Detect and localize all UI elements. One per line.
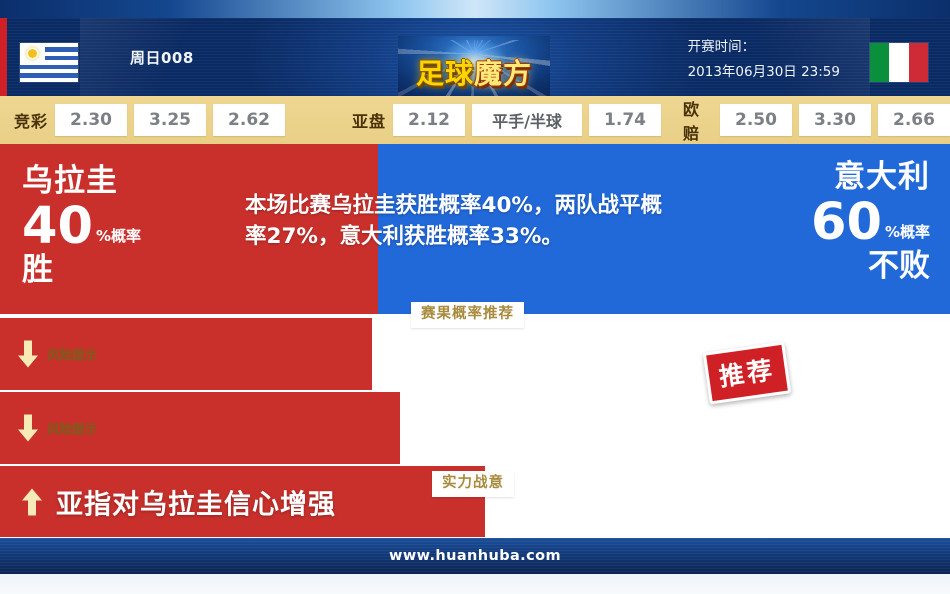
- kickoff-time-block: 开赛时间： 2013年06月30日 23:59: [688, 18, 840, 96]
- site-logo[interactable]: 足球魔方: [398, 36, 550, 96]
- probability-summary-text: 本场比赛乌拉圭获胜概率40%，两队战平概率27%，意大利获胜概率33%。: [245, 190, 675, 252]
- kickoff-label: 开赛时间：: [688, 35, 840, 55]
- header-bar: 周日008 足球魔方 开赛时间： 2013年06月30日 23:59: [0, 18, 950, 96]
- logo-text-part1: 足球: [416, 57, 474, 90]
- away-outcome-label: 不败: [811, 251, 930, 282]
- arrow-up-icon: [22, 488, 42, 515]
- odds-cell-draw[interactable]: 3.25: [134, 104, 206, 136]
- arrow-down-icon: [18, 415, 38, 442]
- odds-cell-away[interactable]: 2.66: [878, 104, 950, 136]
- header-red-edge: [0, 18, 7, 96]
- lottery-home-panel: 亚指对乌拉圭信心增强: [0, 466, 485, 537]
- match-preview-graphic: 周日008 足球魔方 开赛时间： 2013年06月30日 23:59 竞彩 2.…: [0, 0, 950, 594]
- status-home-panel: 风险提示: [0, 392, 400, 464]
- strength-home-panel: 风险提示: [0, 318, 372, 390]
- risk-hint-left: 风险提示: [18, 341, 97, 368]
- home-outcome-label: 胜: [22, 255, 141, 286]
- uruguay-sun-icon: [28, 49, 37, 58]
- tab-probability[interactable]: 赛果概率推荐: [411, 302, 524, 328]
- away-team-name: 意大利: [811, 162, 930, 193]
- tab-strength[interactable]: 实力战意: [432, 471, 514, 497]
- risk-hint-label: 风险提示: [47, 345, 97, 364]
- odds-group-jingcai: 竞彩 2.30 3.25 2.62: [14, 104, 285, 136]
- risk-hint-label: 风险提示: [47, 419, 97, 438]
- home-team-block: 乌拉圭 40 %概率 胜: [22, 166, 141, 286]
- uruguay-flag-icon: [20, 43, 78, 82]
- page-bottom-padding: [0, 574, 950, 594]
- match-number: 周日008: [130, 18, 194, 96]
- odds-cell-handicap[interactable]: 平手/半球: [472, 104, 582, 136]
- away-probability-value: 60: [811, 199, 882, 247]
- footer-url[interactable]: www.huanhuba.com: [389, 548, 561, 564]
- footer-bar: www.huanhuba.com: [0, 538, 950, 574]
- odds-cell-home[interactable]: 2.12: [393, 104, 465, 136]
- odds-group-label: 亚盘: [352, 108, 386, 132]
- strength-row: 风险提示 意大利交锋不落下风: [0, 318, 950, 390]
- status-row: 风险提示 意大利表现稳定不败率高: [0, 392, 950, 464]
- odds-cell-away[interactable]: 2.62: [213, 104, 285, 136]
- risk-hint-left: 风险提示: [18, 415, 97, 442]
- odds-group-label: 欧赔: [683, 96, 713, 144]
- logo-text: 足球魔方: [398, 52, 550, 92]
- logo-text-part2: 魔方: [474, 57, 532, 90]
- odds-bar: 竞彩 2.30 3.25 2.62 亚盘 2.12 平手/半球 1.74 欧赔 …: [0, 96, 950, 144]
- home-probability-suffix: %概率: [96, 229, 141, 244]
- away-team-block: 意大利 60 %概率 不败: [811, 162, 930, 282]
- odds-group-asian: 亚盘 2.12 平手/半球 1.74: [352, 104, 661, 136]
- odds-cell-draw[interactable]: 3.30: [799, 104, 871, 136]
- odds-group-label: 竞彩: [14, 108, 48, 132]
- home-probability-value: 40: [22, 203, 93, 251]
- home-team-name: 乌拉圭: [22, 166, 141, 197]
- italy-flag-icon: [870, 43, 928, 82]
- odds-cell-home[interactable]: 2.50: [720, 104, 792, 136]
- arrow-down-icon: [18, 341, 38, 368]
- analysis-panel: 乌拉圭 40 %概率 胜 本场比赛乌拉圭获胜概率40%，两队战平概率27%，意大…: [0, 144, 950, 538]
- odds-group-european: 欧赔 2.50 3.30 2.66: [683, 96, 950, 144]
- kickoff-value: 2013年06月30日 23:59: [688, 60, 840, 80]
- away-probability-suffix: %概率: [885, 225, 930, 240]
- odds-cell-home[interactable]: 2.30: [55, 104, 127, 136]
- lottery-statement-text: 亚指对乌拉圭信心增强: [56, 482, 336, 521]
- odds-cell-away[interactable]: 1.74: [589, 104, 661, 136]
- top-gradient-strip: [0, 0, 950, 18]
- lottery-statement: 亚指对乌拉圭信心增强: [22, 482, 336, 521]
